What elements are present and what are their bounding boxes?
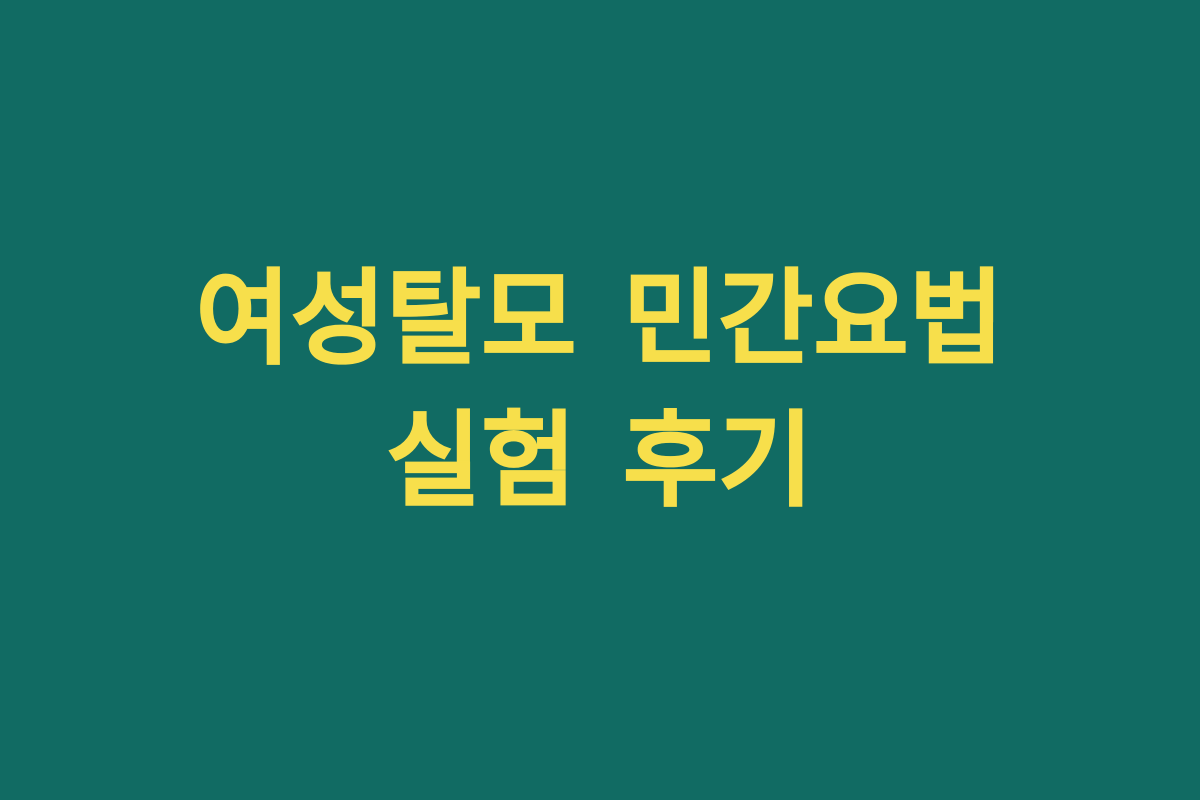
- page-title: 여성탈모 민간요법 실험 후기: [100, 248, 1100, 532]
- title-block: 여성탈모 민간요법 실험 후기: [100, 248, 1100, 532]
- banner-canvas: 여성탈모 민간요법 실험 후기: [0, 0, 1200, 800]
